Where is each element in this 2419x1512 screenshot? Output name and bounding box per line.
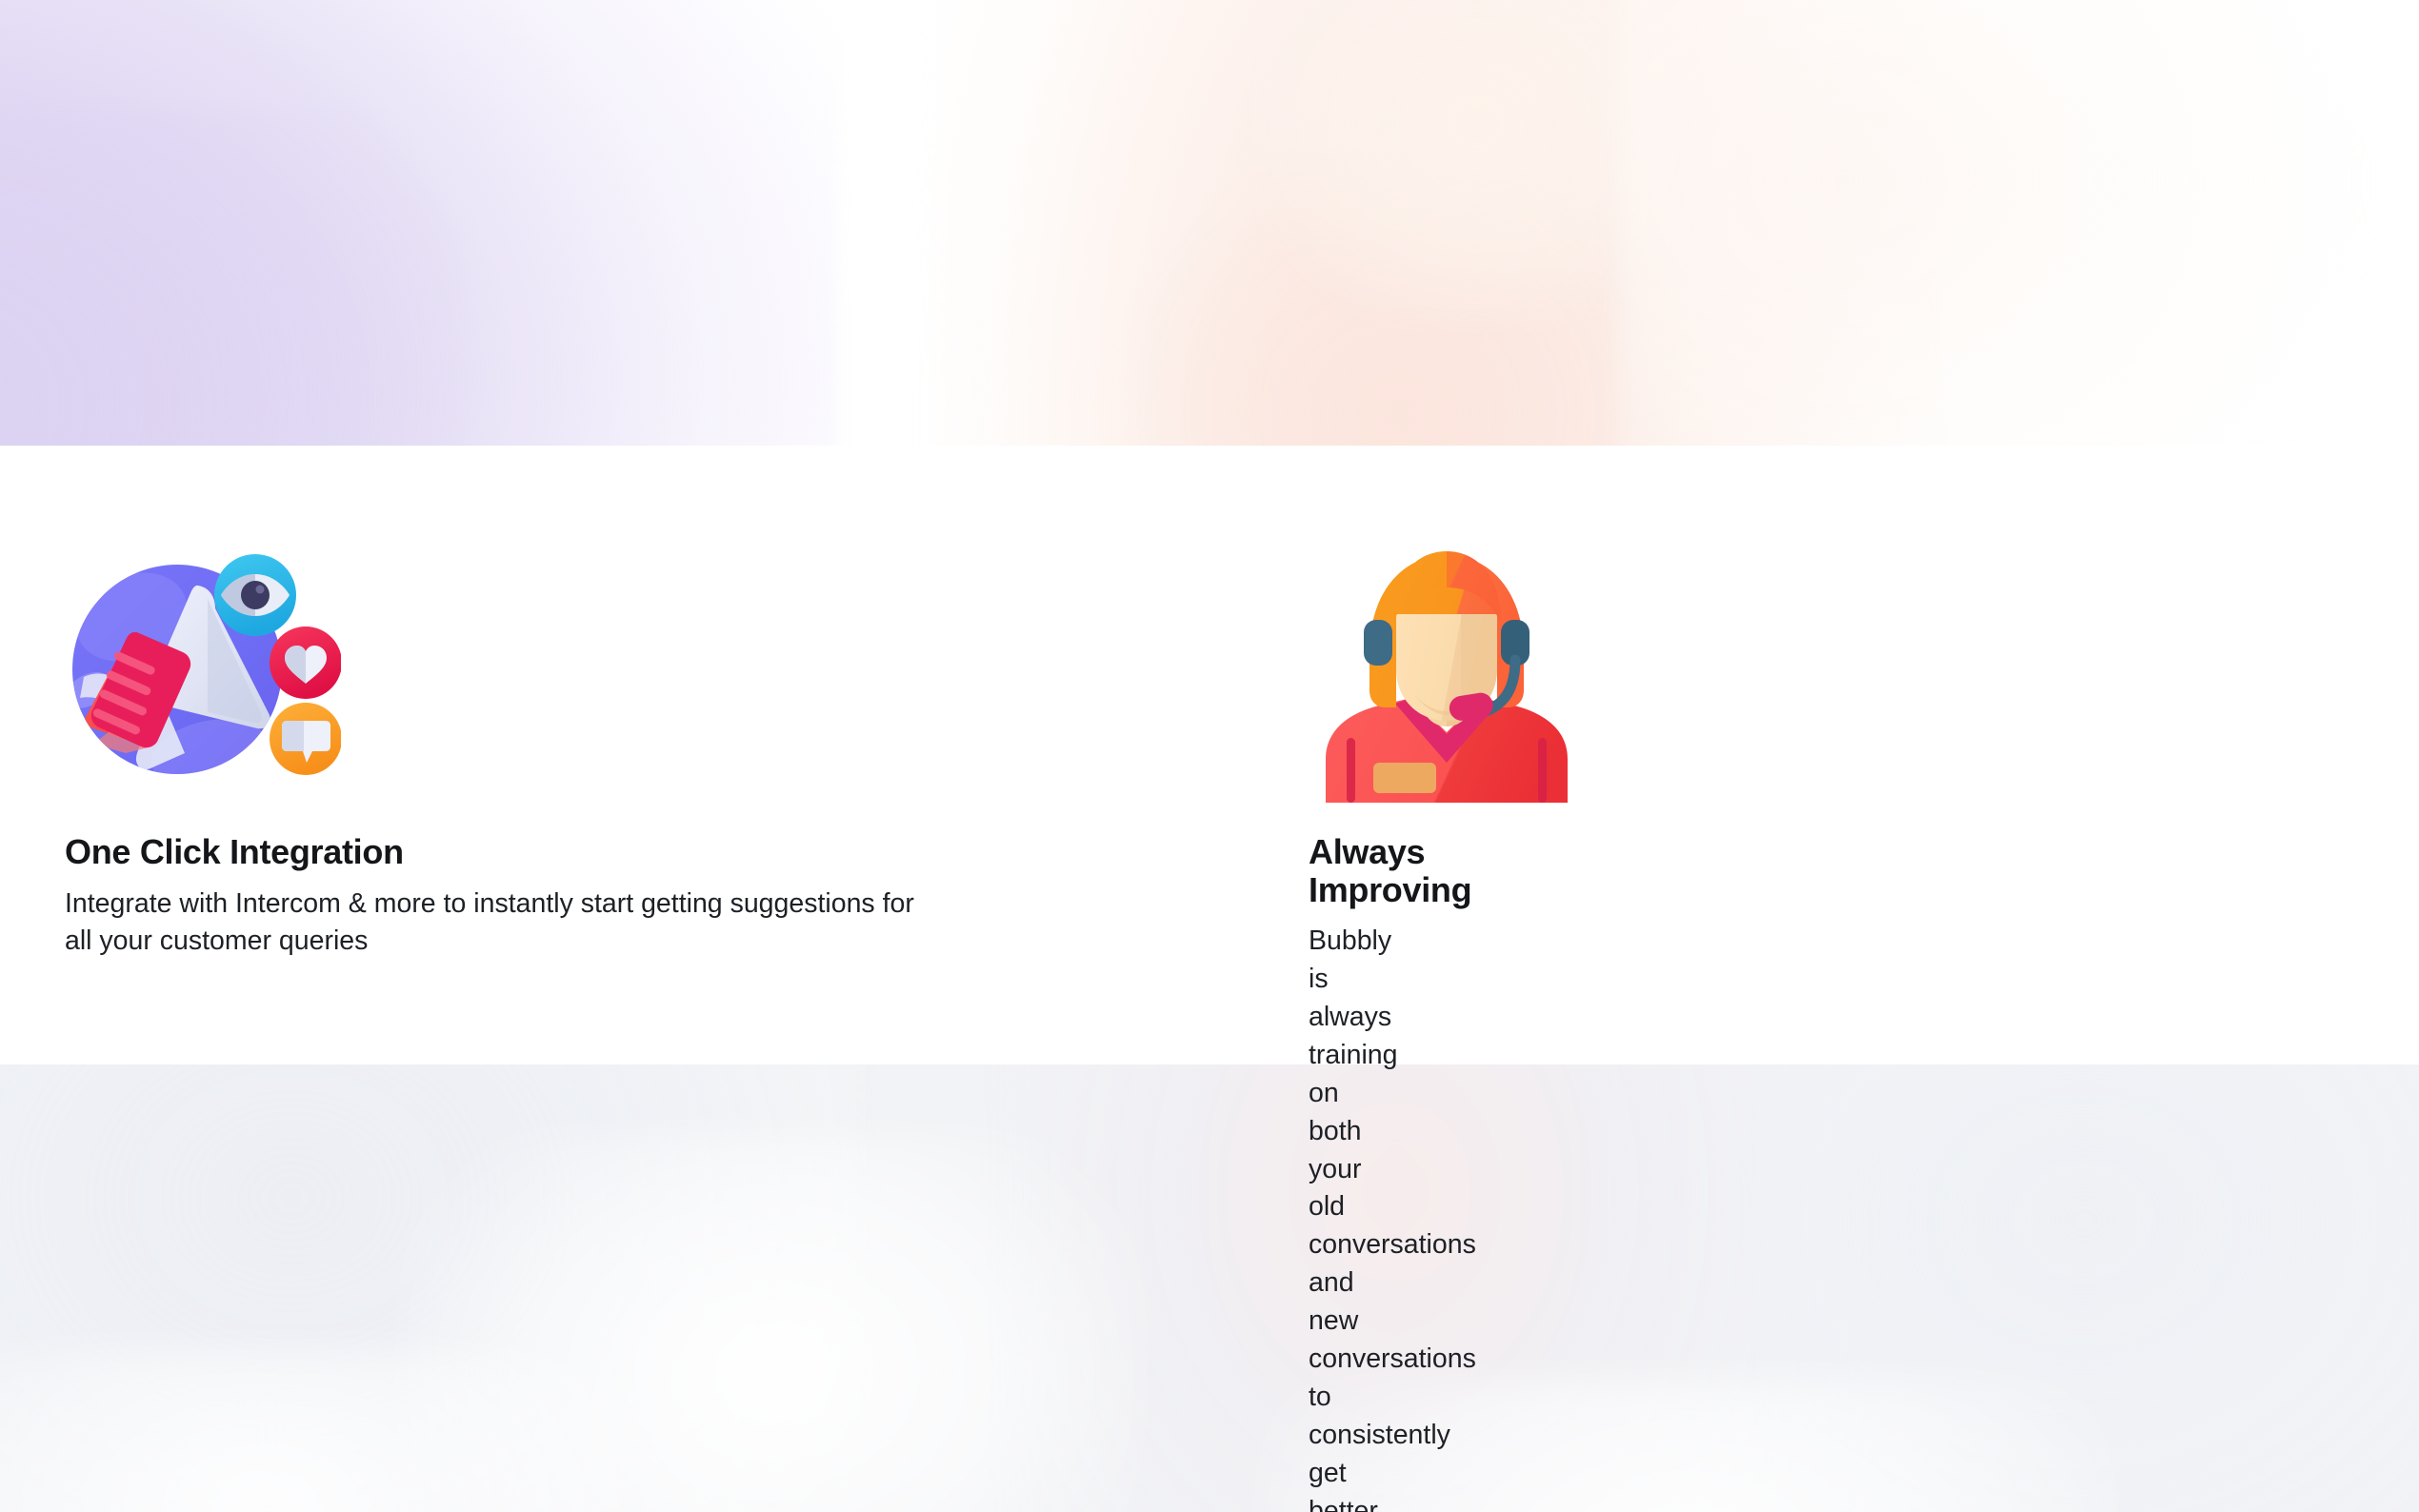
eye-badge-icon bbox=[214, 554, 296, 636]
headset-earcup-left bbox=[1364, 620, 1392, 666]
features-grid: One Click Integration Integrate with Int… bbox=[0, 446, 2419, 1064]
heart-badge-icon bbox=[270, 627, 341, 699]
megaphone-social-icon-svg bbox=[65, 527, 341, 803]
hero-gradient-band bbox=[0, 0, 2419, 446]
agent-name-badge bbox=[1373, 763, 1436, 793]
chat-bubble-badge-icon bbox=[270, 703, 341, 775]
footer-gradient-band bbox=[0, 1064, 2419, 1512]
cream-gradient-blob-right bbox=[1619, 0, 2362, 446]
page-root: One Click Integration Integrate with Int… bbox=[0, 0, 2419, 1512]
footer-highlight-bottom bbox=[0, 1350, 629, 1512]
lavender-gradient-blob-inner bbox=[0, 114, 457, 446]
megaphone-social-icon bbox=[65, 527, 341, 803]
support-agent-headset-icon bbox=[1309, 527, 1585, 803]
support-agent-headset-icon-svg bbox=[1309, 527, 1585, 803]
